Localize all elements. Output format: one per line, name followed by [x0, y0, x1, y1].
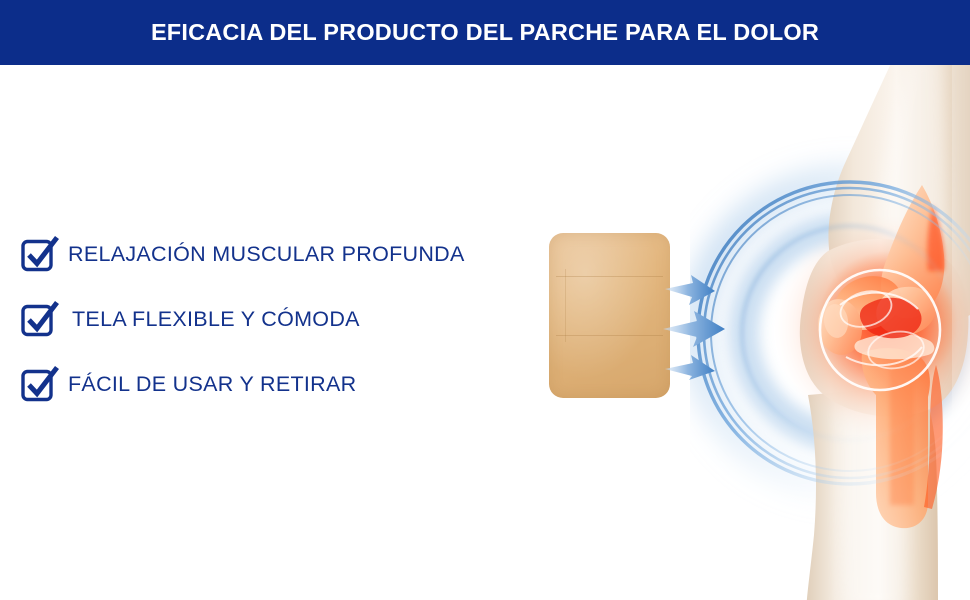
arrow-icon	[665, 355, 715, 380]
patch-seam	[556, 335, 662, 336]
feature-label: RELAJACIÓN MUSCULAR PROFUNDA	[68, 242, 465, 267]
patch-seam	[565, 269, 566, 342]
arrow-icon	[665, 275, 715, 305]
heat-transfer-arrows	[663, 275, 733, 380]
checkbox-checked-icon	[20, 300, 58, 338]
pain-relief-patch	[549, 233, 670, 398]
feature-list: RELAJACIÓN MUSCULAR PROFUNDA TELA FLEXIB…	[20, 228, 500, 423]
list-item: FÁCIL DE USAR Y RETIRAR	[20, 358, 500, 410]
patch-seam	[556, 276, 662, 277]
page-title: EFICACIA DEL PRODUCTO DEL PARCHE PARA EL…	[151, 19, 819, 46]
list-item: RELAJACIÓN MUSCULAR PROFUNDA	[20, 228, 500, 280]
checkbox-checked-icon	[20, 235, 58, 273]
arrow-icon	[663, 311, 725, 347]
feature-label: FÁCIL DE USAR Y RETIRAR	[68, 372, 356, 397]
header-banner: EFICACIA DEL PRODUCTO DEL PARCHE PARA EL…	[0, 0, 970, 65]
feature-label: TELA FLEXIBLE Y CÓMODA	[72, 307, 360, 332]
product-feature-banner: EFICACIA DEL PRODUCTO DEL PARCHE PARA EL…	[0, 0, 970, 600]
patch-surface	[549, 233, 670, 398]
list-item: TELA FLEXIBLE Y CÓMODA	[20, 293, 500, 345]
checkbox-checked-icon	[20, 365, 58, 403]
